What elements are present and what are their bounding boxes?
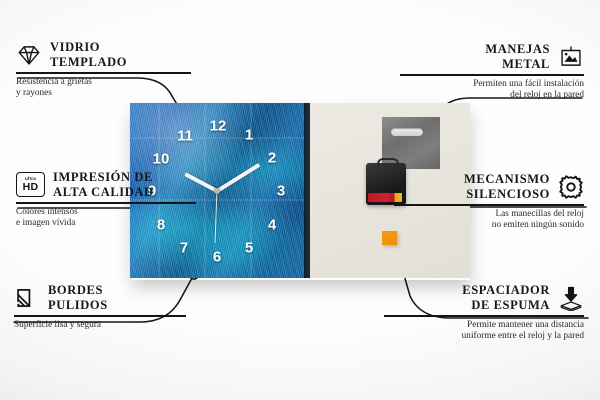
polished-edges-icon <box>14 285 40 311</box>
callout-title: ESPACIADORDE ESPUMA <box>462 283 550 312</box>
foam-spacer-icon <box>558 285 584 311</box>
callout-rule <box>16 202 196 204</box>
callout-bordes-pulidos: BORDESPULIDOS Superficie lisa y segura <box>14 283 186 331</box>
clock-numeral-11: 11 <box>177 129 193 144</box>
callout-title: MANEJASMETAL <box>485 42 550 71</box>
callout-impresion-alta-calidad: ultra HD IMPRESIÓN DEALTA CALIDAD Colore… <box>16 170 196 230</box>
callout-title: VIDRIOTEMPLADO <box>50 40 127 69</box>
hanger-slot <box>391 128 423 136</box>
clock-center-hub <box>214 188 220 194</box>
callout-rule <box>400 74 584 76</box>
callout-title: IMPRESIÓN DEALTA CALIDAD <box>53 170 154 199</box>
callout-title: MECANISMOSILENCIOSO <box>464 172 550 201</box>
clock-numeral-4: 4 <box>268 218 276 233</box>
clock-numeral-10: 10 <box>153 152 170 167</box>
callout-description: Las manecillas del reloj no emiten ningú… <box>394 209 584 233</box>
foam-spacer <box>382 231 397 245</box>
callout-title: BORDESPULIDOS <box>48 283 108 312</box>
clock-numeral-7: 7 <box>180 241 188 256</box>
clock-numeral-3: 3 <box>277 184 285 199</box>
ultra-hd-big-label: HD <box>23 182 39 193</box>
callout-rule <box>394 204 584 206</box>
clock-numeral-6: 6 <box>213 250 221 265</box>
clock-numeral-12: 12 <box>210 119 227 134</box>
callout-rule <box>384 315 584 317</box>
callout-rule <box>16 72 191 74</box>
callout-mecanismo-silencioso: MECANISMOSILENCIOSO Las manecillas del r… <box>394 172 584 232</box>
clock-numeral-1: 1 <box>245 128 253 143</box>
diamond-icon <box>16 42 42 68</box>
callout-description: Superficie lisa y segura <box>14 320 186 332</box>
callout-description: Colores intensos e imagen vívida <box>16 207 196 231</box>
callout-description: Permite mantener una distancia uniforme … <box>384 320 584 344</box>
infographic-canvas: 12 1 2 3 4 5 6 7 8 9 10 11 <box>0 0 600 400</box>
picture-frame-icon <box>558 44 584 70</box>
callout-manejas-metal: MANEJASMETAL Permiten una fácil instalac… <box>400 42 584 102</box>
clock-numeral-5: 5 <box>245 241 253 256</box>
ultra-hd-icon: ultra HD <box>16 172 45 197</box>
callout-description: Permiten una fácil instalación del reloj… <box>400 79 584 103</box>
callout-description: Resistencia a grietas y rayones <box>16 77 191 101</box>
callout-rule <box>14 315 186 317</box>
callout-vidrio-templado: VIDRIOTEMPLADO Resistencia a grietas y r… <box>16 40 191 100</box>
clock-numeral-2: 2 <box>268 151 276 166</box>
callout-espaciador-espuma: ESPACIADORDE ESPUMA Permite mantener una… <box>384 283 584 343</box>
gear-icon <box>558 174 584 200</box>
mechanism-loop <box>377 158 399 168</box>
